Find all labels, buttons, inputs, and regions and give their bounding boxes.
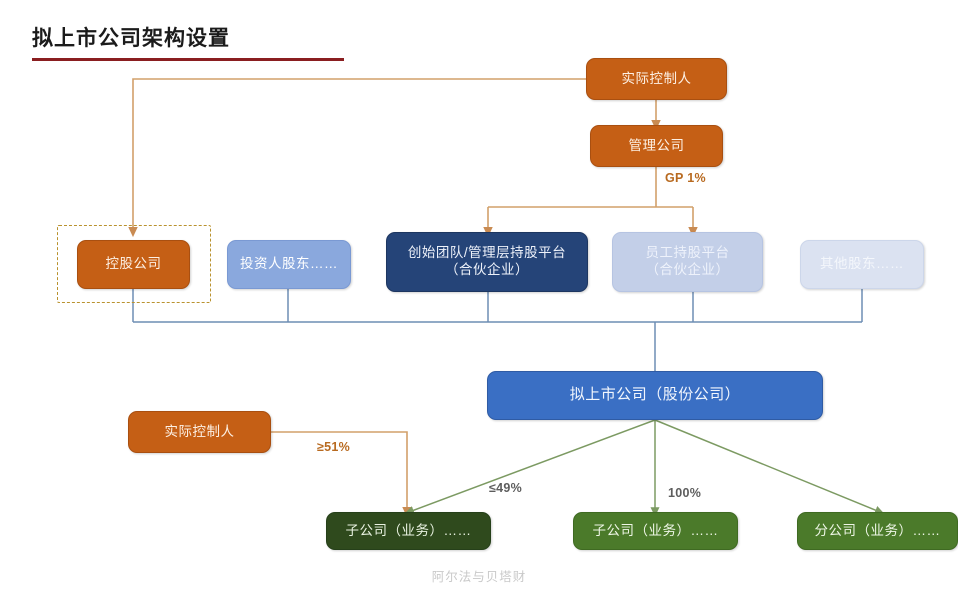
node-founder-management-platform[interactable]: 创始团队/管理层持股平台 （合伙企业）	[386, 232, 588, 292]
watermark-text: 阿尔法与贝塔财	[0, 566, 958, 585]
node-other-shareholders[interactable]: 其他股东……	[800, 240, 924, 289]
node-management-company[interactable]: 管理公司	[590, 125, 723, 167]
node-subsidiary-1[interactable]: 子公司（业务）……	[326, 512, 491, 550]
edge-label-gp-1-percent: GP 1%	[665, 171, 706, 185]
edge-label-at-most-49: ≤49%	[489, 481, 522, 495]
edge-label-at-least-51: ≥51%	[317, 440, 350, 454]
page-title: 拟上市公司架构设置	[32, 22, 230, 52]
diagram-canvas: 拟上市公司架构设置	[0, 0, 958, 602]
node-investor-shareholders[interactable]: 投资人股东……	[227, 240, 351, 289]
node-listed-company[interactable]: 拟上市公司（股份公司）	[487, 371, 823, 420]
node-actual-controller-bottom[interactable]: 实际控制人	[128, 411, 271, 453]
node-actual-controller-top[interactable]: 实际控制人	[586, 58, 727, 100]
node-employee-holding-platform[interactable]: 员工持股平台 （合伙企业）	[612, 232, 763, 292]
title-underline-rule	[32, 58, 344, 61]
edge-label-100-percent: 100%	[668, 486, 701, 500]
node-branch-1[interactable]: 分公司（业务）……	[797, 512, 958, 550]
node-holding-company[interactable]: 控股公司	[77, 240, 190, 289]
node-subsidiary-2[interactable]: 子公司（业务）……	[573, 512, 738, 550]
